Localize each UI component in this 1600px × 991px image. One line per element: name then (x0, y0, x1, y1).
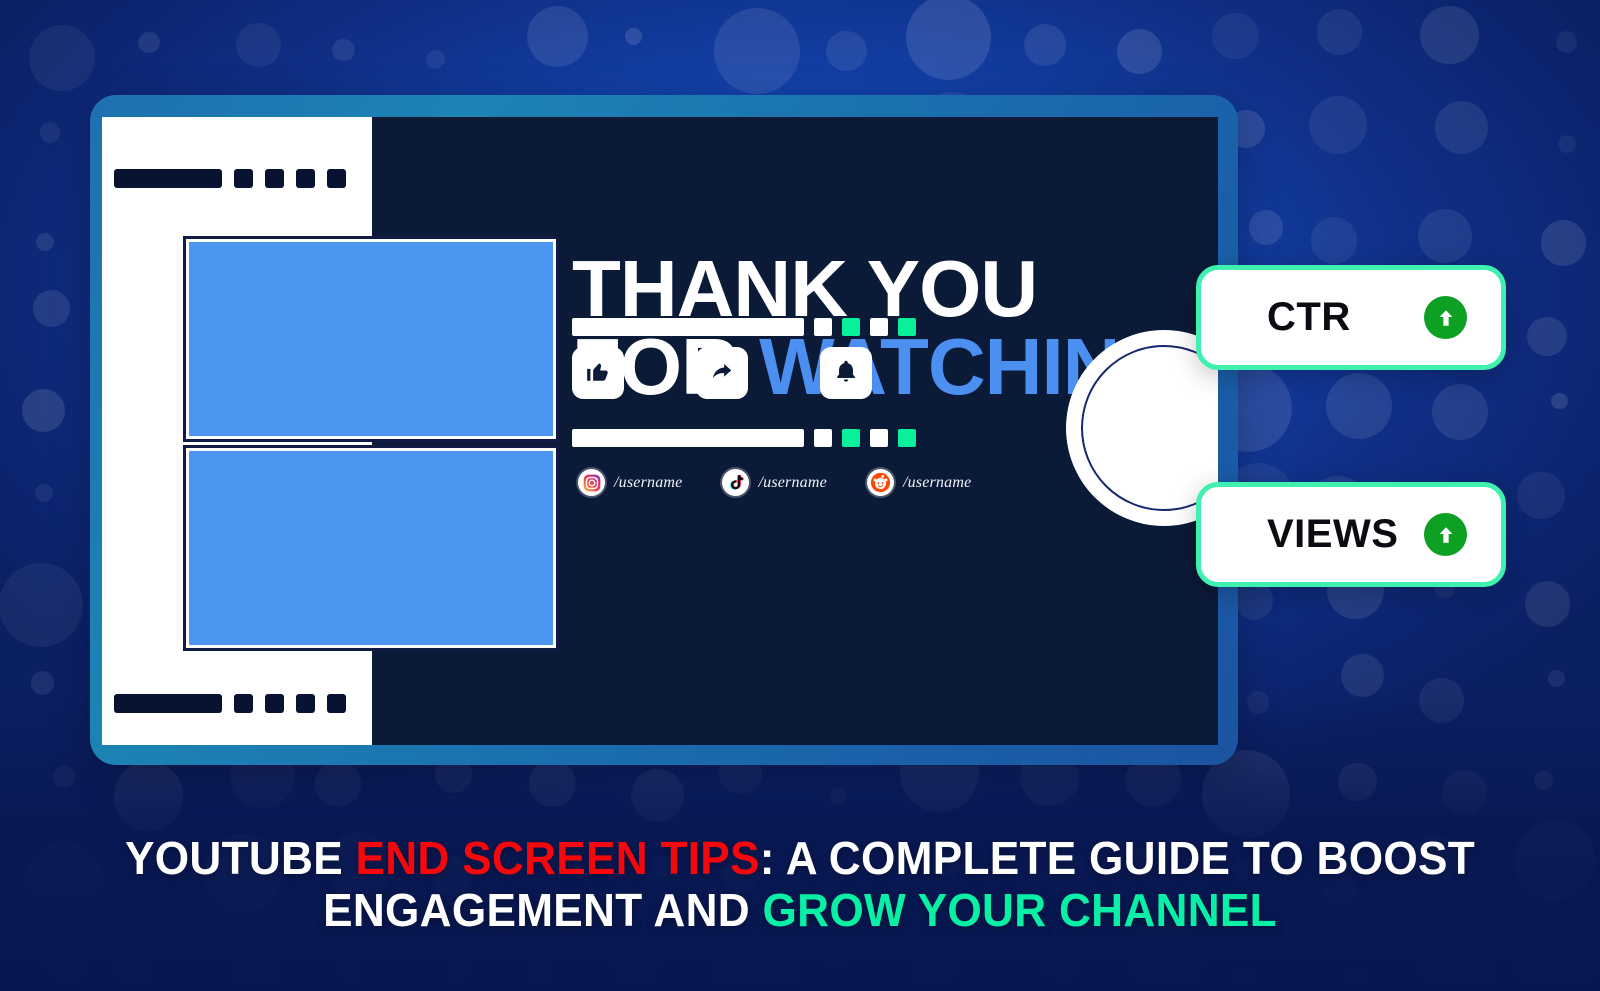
progress-block-white (870, 429, 888, 447)
title-line-2: ENGAGEMENT AND GROW YOUR CHANNEL (32, 884, 1568, 936)
progress-bar (572, 318, 804, 336)
social-handle: /username (758, 474, 826, 492)
like-button[interactable] (572, 347, 624, 399)
up-arrow-icon (1424, 296, 1467, 339)
page-title: YOUTUBE END SCREEN TIPS: A COMPLETE GUID… (32, 832, 1568, 937)
skeleton-square (327, 694, 346, 713)
social-handle: /username (903, 474, 971, 492)
tiktok-icon (722, 469, 749, 496)
instagram-icon (578, 469, 605, 496)
progress-block-green (842, 429, 860, 447)
skeleton-square (296, 169, 315, 188)
social-link-instagram[interactable]: /username (578, 469, 682, 496)
bell-icon (833, 358, 859, 389)
progress-bar (572, 429, 804, 447)
title-segment-white: YOUTUBE (125, 832, 355, 884)
progress-bar-row-bottom (572, 429, 916, 447)
social-links-row: /username /username (578, 469, 971, 496)
social-handle: /username (614, 474, 682, 492)
title-line-1: YOUTUBE END SCREEN TIPS: A COMPLETE GUID… (32, 832, 1568, 884)
skeleton-square (327, 169, 346, 188)
metric-badge-views[interactable]: VIEWS (1196, 482, 1506, 587)
skeleton-bar (114, 169, 222, 188)
action-button-row (572, 347, 872, 399)
social-link-reddit[interactable]: /username (867, 469, 971, 496)
video-thumbnail-1[interactable] (186, 239, 556, 439)
skeleton-square (234, 694, 253, 713)
title-segment-mint: GROW YOUR CHANNEL (763, 884, 1277, 936)
badge-label: VIEWS (1267, 512, 1398, 557)
skeleton-square (265, 694, 284, 713)
title-segment-white-3: ENGAGEMENT AND (323, 884, 762, 936)
title-segment-red: END SCREEN TIPS (356, 832, 760, 884)
skeleton-row-bottom (114, 694, 346, 713)
metric-badge-ctr[interactable]: CTR (1196, 265, 1506, 370)
social-link-tiktok[interactable]: /username (722, 469, 826, 496)
reddit-icon (867, 469, 894, 496)
endscreen-content: THANK YOU FOR WATCHING (572, 117, 1218, 745)
share-button[interactable] (696, 347, 748, 399)
notification-bell-button[interactable] (820, 347, 872, 399)
progress-block-green (842, 318, 860, 336)
progress-block-green (898, 318, 916, 336)
skeleton-bar (114, 694, 222, 713)
skeleton-row-top (114, 169, 346, 188)
video-thumbnail-2[interactable] (186, 448, 556, 648)
endscreen-frame: THANK YOU FOR WATCHING (90, 95, 1238, 765)
skeleton-square (234, 169, 253, 188)
progress-block-white (814, 429, 832, 447)
up-arrow-icon (1424, 513, 1467, 556)
title-segment-white-2: : A COMPLETE GUIDE TO BOOST (760, 832, 1475, 884)
progress-bar-row-top (572, 318, 916, 336)
progress-block-white (814, 318, 832, 336)
share-arrow-icon (709, 358, 735, 389)
thumbs-up-icon (585, 358, 611, 389)
progress-block-white (870, 318, 888, 336)
endscreen-canvas: THANK YOU FOR WATCHING (102, 117, 1218, 745)
progress-block-green (898, 429, 916, 447)
skeleton-square (296, 694, 315, 713)
skeleton-square (265, 169, 284, 188)
badge-label: CTR (1267, 295, 1351, 340)
